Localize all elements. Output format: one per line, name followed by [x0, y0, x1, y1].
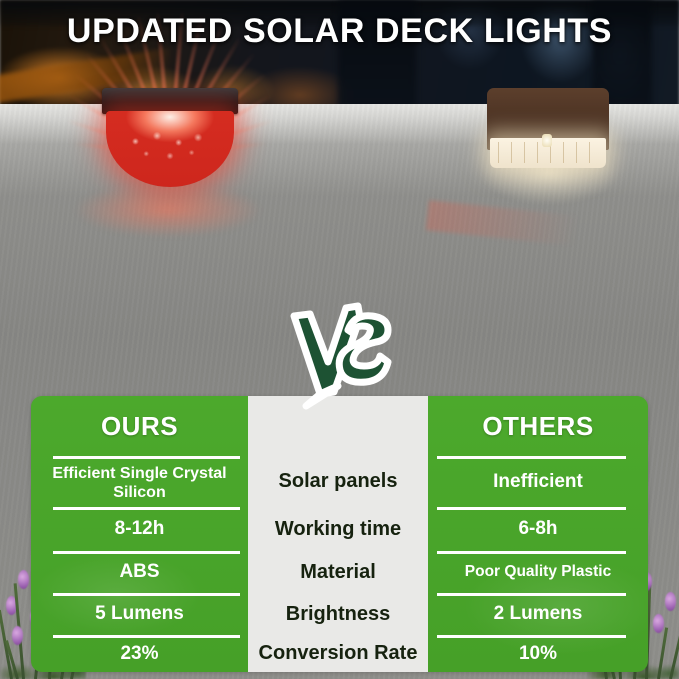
cell-ours: 8-12h — [31, 507, 248, 551]
lavender-bloom — [12, 626, 23, 645]
cell-others: Inefficient — [428, 456, 648, 507]
cell-feature: Conversion Rate — [248, 635, 428, 672]
row-divider — [53, 456, 240, 459]
row-divider — [437, 635, 626, 638]
floor-glow — [38, 178, 298, 258]
row-divider — [437, 456, 626, 459]
column-header-others: OTHERS — [428, 396, 648, 456]
cell-others: Poor Quality Plastic — [428, 551, 648, 593]
comparison-table: OURS OTHERS Efficient Single Crystal Sil… — [31, 396, 648, 672]
row-divider — [53, 593, 240, 596]
table-row: 5 Lumens Brightness 2 Lumens — [31, 593, 648, 635]
cell-ours: 5 Lumens — [31, 593, 248, 635]
page-title-text: UPDATED SOLAR DECK LIGHTS — [67, 12, 612, 51]
table-row: ABS Material Poor Quality Plastic — [31, 551, 648, 593]
bulb — [542, 134, 552, 147]
lavender-bloom — [18, 570, 29, 589]
table-row: 8-12h Working time 6-8h — [31, 507, 648, 551]
row-divider — [437, 593, 626, 596]
lavender-bloom — [653, 614, 664, 633]
table-row: Efficient Single Crystal Silicon Solar p… — [31, 456, 648, 507]
row-divider — [53, 507, 240, 510]
left-product-image — [78, 86, 258, 236]
row-divider — [53, 551, 240, 554]
right-product-image — [487, 88, 609, 200]
cell-others: 10% — [428, 635, 648, 672]
cell-others: 2 Lumens — [428, 593, 648, 635]
cell-feature: Working time — [248, 507, 428, 551]
table-row: 23% Conversion Rate 10% — [31, 635, 648, 672]
cell-ours: Efficient Single Crystal Silicon — [31, 456, 248, 507]
lens-texture — [116, 119, 224, 175]
cell-feature: Brightness — [248, 593, 428, 635]
cell-feature: Solar panels — [248, 456, 428, 507]
row-divider — [53, 635, 240, 638]
cell-feature: Material — [248, 551, 428, 593]
vs-badge — [284, 300, 400, 410]
row-divider — [437, 551, 626, 554]
lavender-bloom — [665, 592, 676, 611]
page-title: UPDATED SOLAR DECK LIGHTS — [0, 12, 679, 51]
cell-ours: 23% — [31, 635, 248, 672]
column-header-ours: OURS — [31, 396, 248, 456]
cell-ours: ABS — [31, 551, 248, 593]
row-divider — [437, 507, 626, 510]
cell-others: 6-8h — [428, 507, 648, 551]
